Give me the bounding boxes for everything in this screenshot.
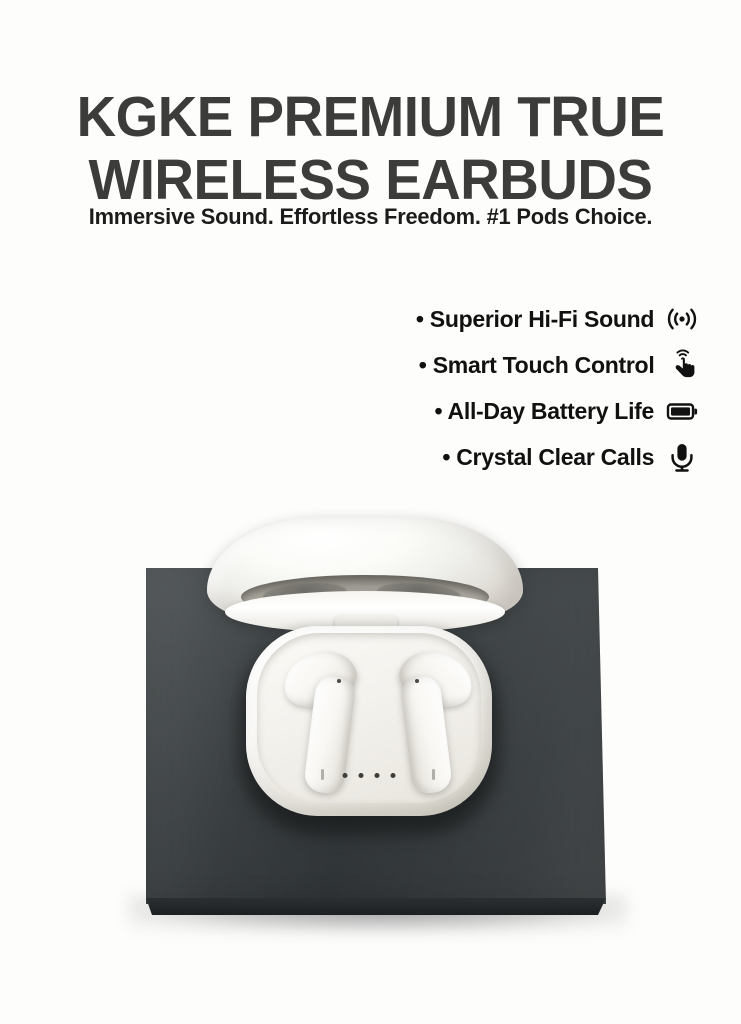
microphone-icon — [665, 440, 699, 474]
feature-item-superior-hifi-sound: • Superior Hi-Fi Sound — [411, 300, 699, 338]
charging-case-body — [246, 626, 492, 822]
led-indicator — [359, 773, 364, 778]
battery-full-icon — [665, 394, 699, 428]
feature-bullet: • — [418, 352, 426, 378]
feature-bullet: • — [416, 306, 424, 332]
earbud-left — [277, 647, 373, 807]
headline-line-1: KGKE PREMIUM TRUE — [15, 86, 726, 149]
feature-item-crystal-clear-calls: • Crystal Clear Calls — [438, 438, 699, 476]
case-cradle — [257, 633, 481, 803]
feature-bullet: • — [442, 444, 450, 470]
subheadline: Immersive Sound. Effortless Freedom. #1 … — [11, 203, 730, 231]
feature-list: • Superior Hi-Fi Sound • Smart Touch Con… — [279, 300, 699, 476]
led-indicator-group — [343, 773, 396, 778]
earbud-left-sensor-dot — [337, 679, 341, 683]
tap-hand-icon — [665, 348, 699, 382]
earbud-left-mic-slit — [321, 769, 324, 780]
product-image — [0, 500, 741, 970]
earbud-right-sensor-dot — [415, 679, 419, 683]
feature-label: • Crystal Clear Calls — [442, 444, 654, 470]
page-title: KGKE PREMIUM TRUE WIRELESS EARBUDS — [15, 86, 726, 212]
led-indicator — [391, 773, 396, 778]
charging-case-lid — [207, 517, 523, 637]
feature-item-all-day-battery-life: • All-Day Battery Life — [430, 392, 699, 430]
feature-label: • Smart Touch Control — [418, 352, 654, 378]
signal-waves-icon — [665, 302, 699, 336]
feature-label: • All-Day Battery Life — [434, 398, 654, 424]
led-indicator — [375, 773, 380, 778]
feature-label: • Superior Hi-Fi Sound — [416, 306, 654, 332]
led-indicator — [343, 773, 348, 778]
earbud-right-mic-slit — [432, 769, 435, 780]
product-poster: KGKE PREMIUM TRUE WIRELESS EARBUDS Immer… — [0, 0, 741, 1024]
feature-item-smart-touch-control: • Smart Touch Control — [414, 346, 699, 384]
earbud-right — [383, 647, 479, 807]
feature-bullet: • — [434, 398, 442, 424]
